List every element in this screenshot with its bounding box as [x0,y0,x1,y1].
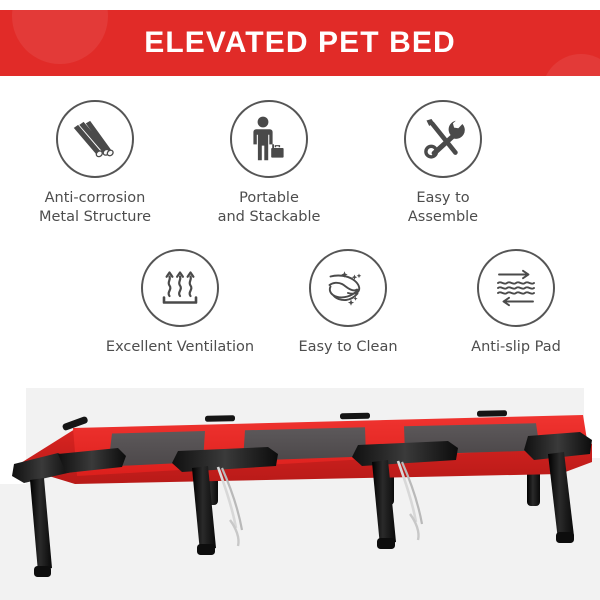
person-with-briefcase-icon [230,100,308,178]
airflow-arrows-icon [141,249,219,327]
metal-tubes-icon [56,100,134,178]
bed-corner-bracket-mid-left [172,447,278,555]
feature-label: Easy to Clean [298,338,397,357]
feature-ventilation: Excellent Ventilation [96,249,264,357]
feature-easy-clean: Easy to Clean [264,249,432,357]
product-photo [0,388,600,600]
anti-slip-waves-icon [477,249,555,327]
page-title: ELEVATED PET BED [0,10,600,76]
feature-label: Easy to Assemble [408,189,478,227]
feature-grid: Anti-corrosion Metal Structure Porta [0,100,600,357]
feature-label: Excellent Ventilation [106,338,254,357]
elevated-pet-bed-illustration [0,388,600,600]
feature-anti-corrosion: Anti-corrosion Metal Structure [8,100,182,227]
infographic-page: ELEVATED PET BED [0,0,600,600]
feature-row-2: Excellent Ventilation [0,249,600,357]
feature-anti-slip: Anti-slip Pad [432,249,600,357]
feature-label: Portable and Stackable [218,189,321,227]
header-banner: ELEVATED PET BED [0,10,600,76]
bed-corner-bracket-mid-right [352,441,458,549]
feature-label: Anti-slip Pad [471,338,561,357]
feature-label: Anti-corrosion Metal Structure [39,189,151,227]
feature-portable: Portable and Stackable [182,100,356,227]
screwdriver-wrench-icon [404,100,482,178]
feature-row-1: Anti-corrosion Metal Structure Porta [0,100,600,227]
bed-corner-bracket-left [12,448,126,577]
cleaning-hand-icon [309,249,387,327]
feature-easy-assemble: Easy to Assemble [356,100,530,227]
